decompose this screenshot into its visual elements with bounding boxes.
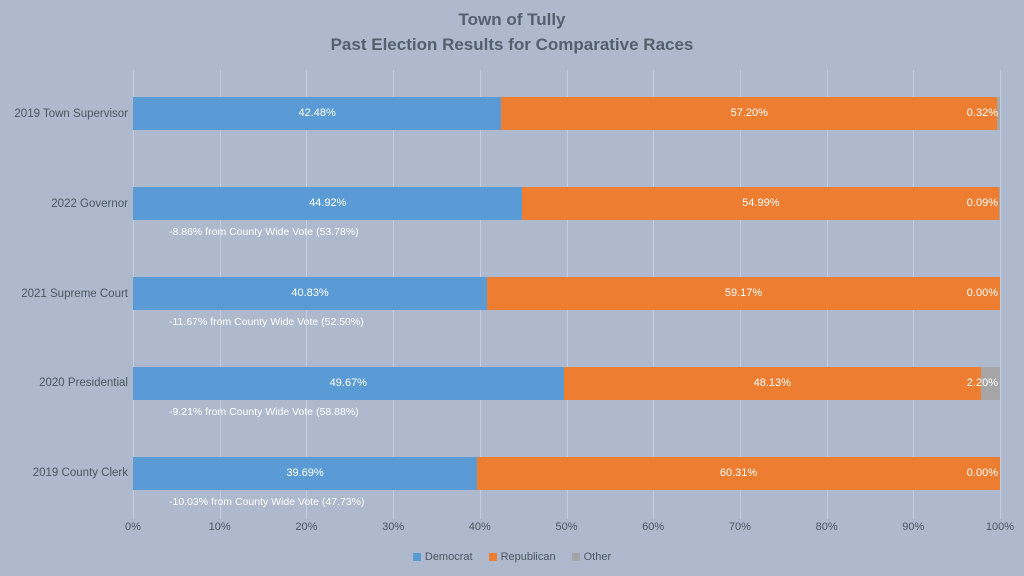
- category-label-5: 2019 County Clerk: [33, 466, 128, 480]
- bar-segment-other[interactable]: 2.20%: [981, 367, 1000, 400]
- legend-item-republican[interactable]: Republican: [489, 551, 556, 563]
- plot-area: 42.48%57.20%0.32%44.92%54.99%0.09%40.83%…: [133, 70, 1000, 519]
- bar-row: 44.92%54.99%0.09%: [133, 187, 1000, 220]
- data-label-democrat: 39.69%: [133, 457, 477, 490]
- bar-track: 39.69%60.31%0.00%: [133, 457, 1000, 490]
- chart-legend: DemocratRepublicanOther: [0, 551, 1024, 563]
- x-tick-label: 40%: [469, 521, 491, 533]
- chart-title-line-1: Town of Tully: [0, 8, 1024, 32]
- chart-container: Town of Tully Past Election Results for …: [0, 0, 1024, 576]
- chart-title-line-2: Past Election Results for Comparative Ra…: [0, 32, 1024, 57]
- bar-row: 39.69%60.31%0.00%: [133, 457, 1000, 490]
- data-label-other: 0.09%: [967, 187, 998, 220]
- category-label-1: 2019 Town Supervisor: [14, 107, 128, 121]
- bar-segment-democrat[interactable]: 49.67%: [133, 367, 564, 400]
- bar-segment-republican[interactable]: 59.17%: [487, 277, 1000, 310]
- legend-swatch-icon: [413, 553, 421, 561]
- data-label-republican: 54.99%: [522, 187, 999, 220]
- bar-track: 42.48%57.20%0.32%: [133, 97, 1000, 130]
- x-tick-label: 100%: [986, 521, 1014, 533]
- category-label-2: 2022 Governor: [51, 197, 128, 211]
- x-tick-label: 90%: [902, 521, 924, 533]
- x-tick-label: 50%: [555, 521, 577, 533]
- data-label-democrat: 44.92%: [133, 187, 522, 220]
- gridline: [1000, 70, 1001, 519]
- data-label-republican: 59.17%: [487, 277, 1000, 310]
- category-label-4: 2020 Presidential: [39, 376, 128, 390]
- legend-item-democrat[interactable]: Democrat: [413, 551, 473, 563]
- bar-row: 40.83%59.17%0.00%: [133, 277, 1000, 310]
- bar-track: 44.92%54.99%0.09%: [133, 187, 1000, 220]
- x-tick-label: 0%: [125, 521, 141, 533]
- legend-label: Other: [584, 551, 612, 563]
- bar-segment-democrat[interactable]: 40.83%: [133, 277, 487, 310]
- bar-annotation: -8.86% from County Wide Vote (53.78%): [169, 225, 359, 239]
- bar-row: 49.67%48.13%2.20%: [133, 367, 1000, 400]
- bar-track: 40.83%59.17%0.00%: [133, 277, 1000, 310]
- legend-label: Republican: [501, 551, 556, 563]
- legend-label: Democrat: [425, 551, 473, 563]
- bar-annotation: -10.03% from County Wide Vote (47.73%): [169, 495, 365, 509]
- bar-segment-republican[interactable]: 57.20%: [501, 97, 997, 130]
- data-label-democrat: 40.83%: [133, 277, 487, 310]
- data-label-democrat: 42.48%: [133, 97, 501, 130]
- bar-track: 49.67%48.13%2.20%: [133, 367, 1000, 400]
- bar-segment-other[interactable]: 0.09%: [999, 187, 1000, 220]
- x-tick-label: 20%: [295, 521, 317, 533]
- bar-segment-democrat[interactable]: 44.92%: [133, 187, 522, 220]
- x-tick-label: 10%: [209, 521, 231, 533]
- bar-segment-republican[interactable]: 48.13%: [564, 367, 981, 400]
- data-label-other: 0.00%: [967, 277, 998, 310]
- legend-item-other[interactable]: Other: [572, 551, 612, 563]
- data-label-other: 0.00%: [967, 457, 998, 490]
- bar-segment-republican[interactable]: 54.99%: [522, 187, 999, 220]
- x-tick-label: 30%: [382, 521, 404, 533]
- data-label-republican: 60.31%: [477, 457, 1000, 490]
- chart-title: Town of Tully Past Election Results for …: [0, 8, 1024, 57]
- data-label-republican: 48.13%: [564, 367, 981, 400]
- x-tick-label: 70%: [729, 521, 751, 533]
- bar-annotation: -9.21% from County Wide Vote (58.88%): [169, 405, 359, 419]
- bar-annotation: -11.67% from County Wide Vote (52.50%): [169, 315, 364, 329]
- data-label-other: 0.32%: [967, 97, 998, 130]
- bar-segment-other[interactable]: 0.32%: [997, 97, 1000, 130]
- data-label-other: 2.20%: [967, 367, 998, 400]
- x-tick-label: 80%: [816, 521, 838, 533]
- bar-segment-democrat[interactable]: 42.48%: [133, 97, 501, 130]
- data-label-democrat: 49.67%: [133, 367, 564, 400]
- bar-segment-democrat[interactable]: 39.69%: [133, 457, 477, 490]
- legend-swatch-icon: [489, 553, 497, 561]
- bar-row: 42.48%57.20%0.32%: [133, 97, 1000, 130]
- x-tick-label: 60%: [642, 521, 664, 533]
- legend-swatch-icon: [572, 553, 580, 561]
- category-label-3: 2021 Supreme Court: [21, 287, 128, 301]
- bar-segment-republican[interactable]: 60.31%: [477, 457, 1000, 490]
- x-axis: 0%10%20%30%40%50%60%70%80%90%100%: [133, 521, 1000, 539]
- data-label-republican: 57.20%: [501, 97, 997, 130]
